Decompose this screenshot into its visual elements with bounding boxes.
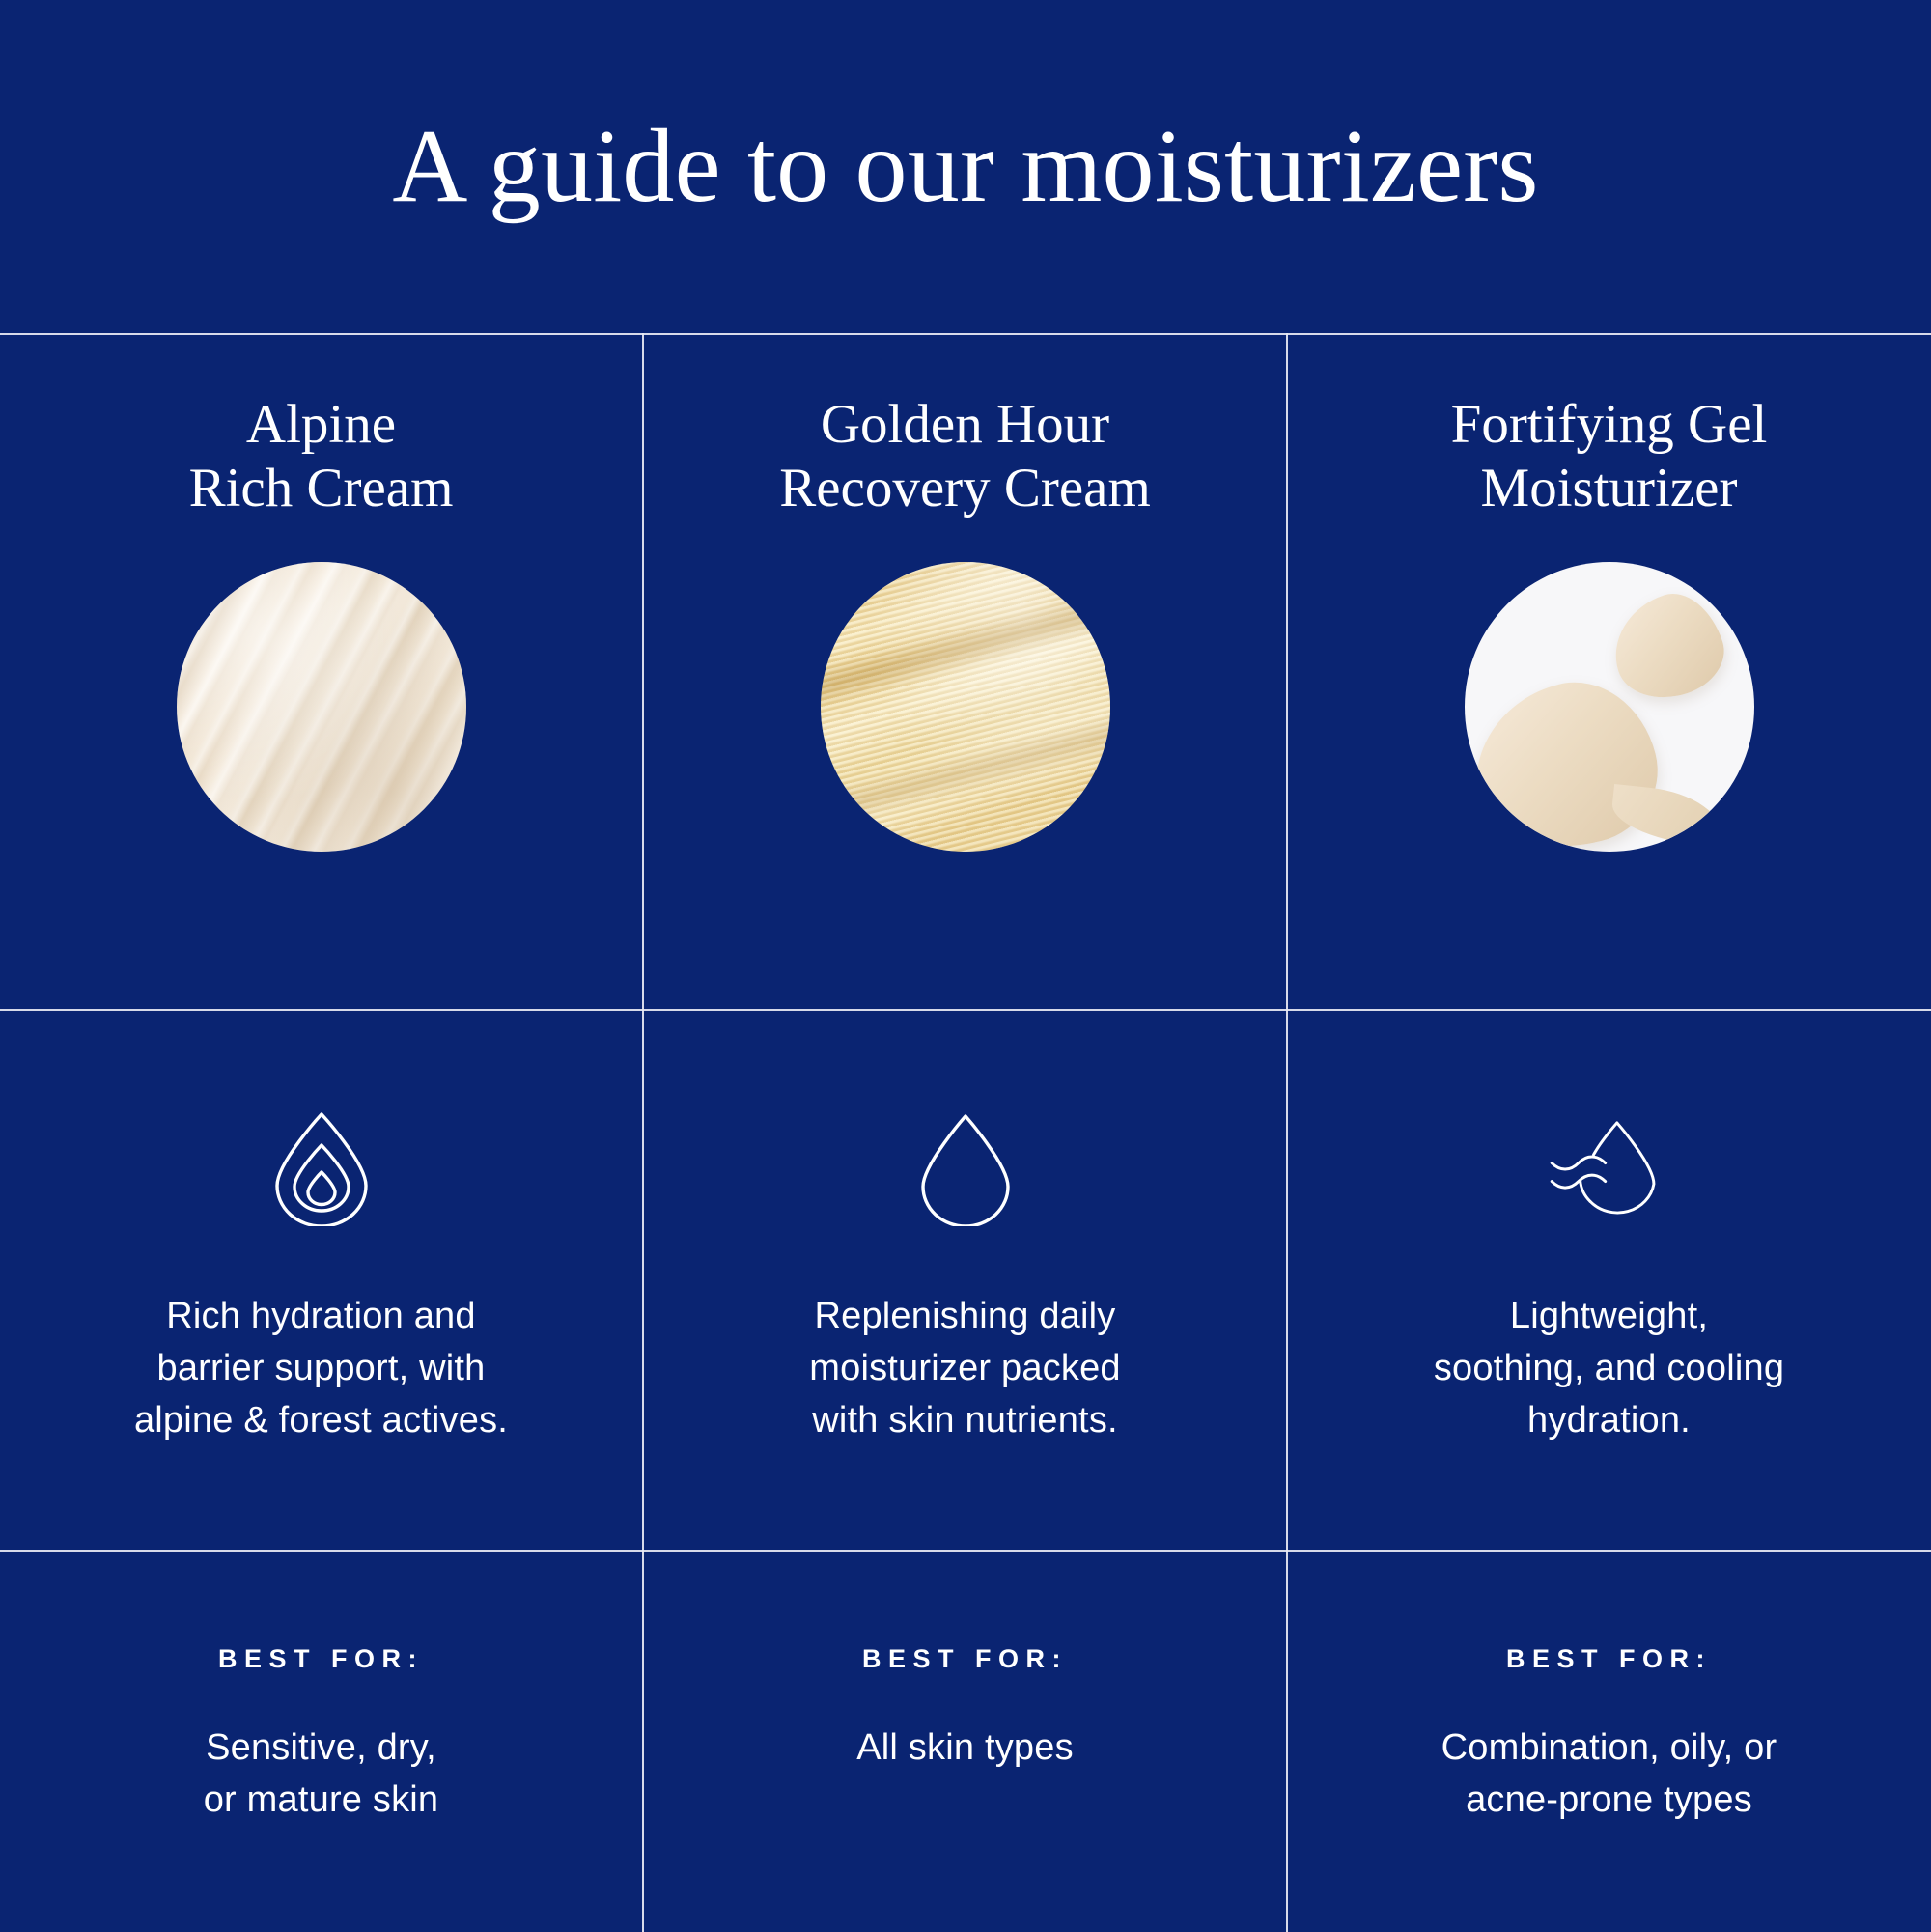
droplet-icon bbox=[903, 1106, 1028, 1227]
best-for-value-1: Sensitive, dry, or mature skin bbox=[204, 1722, 439, 1827]
fortifying-gel-moisturizer-texture bbox=[1465, 562, 1754, 852]
product-bestfor-1: BEST FOR: Sensitive, dry, or mature skin bbox=[0, 1552, 642, 1932]
product-description-2: Replenishing daily moisturizer packed wi… bbox=[809, 1291, 1121, 1447]
gel-droplet-tail bbox=[1609, 784, 1727, 848]
product-name-3: Fortifying Gel Moisturizer bbox=[1451, 393, 1768, 519]
product-bestfor-3: BEST FOR: Combination, oily, or acne-pro… bbox=[1288, 1552, 1930, 1932]
title-band: A guide to our moisturizers bbox=[0, 0, 1931, 333]
product-card-2-header: Golden Hour Recovery Cream bbox=[644, 333, 1286, 1009]
moisturizer-guide-infographic: A guide to our moisturizers Alpine Rich … bbox=[0, 0, 1931, 1932]
best-for-label-3: BEST FOR: bbox=[1506, 1644, 1712, 1674]
product-swatch-2 bbox=[821, 562, 1110, 852]
product-description-1: Rich hydration and barrier support, with… bbox=[134, 1291, 508, 1447]
best-for-label-2: BEST FOR: bbox=[862, 1644, 1068, 1674]
product-swatch-3 bbox=[1465, 562, 1754, 852]
best-for-label-1: BEST FOR: bbox=[218, 1644, 424, 1674]
product-benefit-3: Lightweight, soothing, and cooling hydra… bbox=[1288, 1011, 1930, 1550]
product-name-2: Golden Hour Recovery Cream bbox=[779, 393, 1151, 519]
droplet-with-waves-icon bbox=[1547, 1106, 1672, 1227]
nested-droplet-icon bbox=[259, 1106, 384, 1227]
best-for-value-3: Combination, oily, or acne-prone types bbox=[1441, 1722, 1777, 1827]
product-description-3: Lightweight, soothing, and cooling hydra… bbox=[1434, 1291, 1784, 1447]
alpine-rich-cream-texture bbox=[177, 562, 466, 852]
best-for-value-2: All skin types bbox=[856, 1722, 1074, 1775]
product-bestfor-2: BEST FOR: All skin types bbox=[644, 1552, 1286, 1932]
product-benefit-2: Replenishing daily moisturizer packed wi… bbox=[644, 1011, 1286, 1550]
product-card-3-header: Fortifying Gel Moisturizer bbox=[1288, 333, 1930, 1009]
product-benefit-1: Rich hydration and barrier support, with… bbox=[0, 1011, 642, 1550]
page-title: A guide to our moisturizers bbox=[392, 115, 1538, 219]
product-swatch-1 bbox=[177, 562, 466, 852]
gel-droplet-small bbox=[1600, 582, 1734, 712]
golden-hour-recovery-cream-texture bbox=[821, 562, 1110, 852]
product-card-1-header: Alpine Rich Cream bbox=[0, 333, 642, 1009]
product-name-1: Alpine Rich Cream bbox=[189, 393, 454, 519]
